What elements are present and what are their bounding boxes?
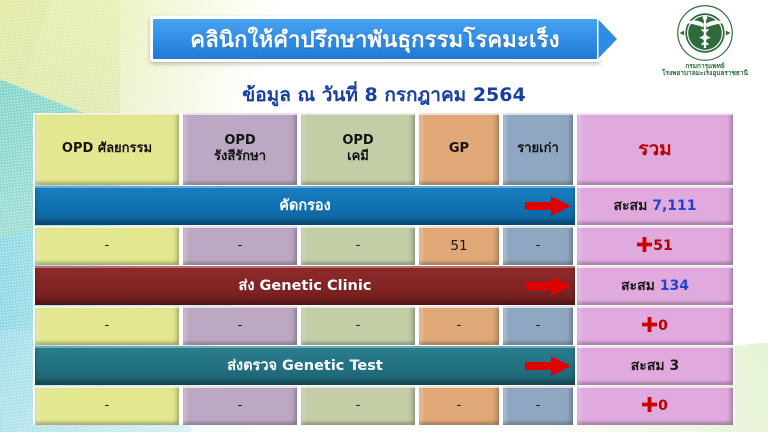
- data-as-of-date: ข้อมูล ณ วันที่ 8 กรกฎาคม 2564: [0, 80, 768, 110]
- header-line-1: OPD: [342, 133, 373, 149]
- header-cell-old-case: รายเก่า: [501, 113, 575, 185]
- data-cell-opd-surgery: -: [33, 386, 181, 425]
- logo-caption: กรมการแพทย์ โรงพยาบาลมะเร็งอุบลราชธานี: [662, 63, 748, 77]
- total-value: 51: [653, 238, 672, 254]
- cell-value: 51: [450, 238, 467, 254]
- table-row: ส่ง Genetic Clinic สะสม 134: [33, 266, 735, 305]
- cell-value: -: [356, 238, 361, 253]
- data-cell-old-case: -: [501, 386, 575, 425]
- row-banner-label: คัดกรอง: [279, 194, 330, 217]
- data-cell-gp: -: [417, 386, 501, 425]
- date-text: ข้อมูล ณ วันที่ 8 กรกฎาคม 2564: [242, 84, 525, 106]
- row-total-cell: สะสม 3: [575, 346, 735, 385]
- data-cell-opd-radiation: -: [181, 386, 299, 425]
- ministry-logo: กรมการแพทย์ โรงพยาบาลมะเร็งอุบลราชธานี: [650, 4, 760, 88]
- header-line-1: รายเก่า: [517, 141, 559, 157]
- row-banner-send-genetic-test: ส่งตรวจ Genetic Test: [33, 346, 575, 385]
- total-value: 0: [658, 318, 668, 334]
- data-cell-opd-radiation: -: [181, 226, 299, 265]
- header-line-2: รังสีรักษา: [214, 149, 266, 165]
- page-title: คลินิกให้คำปรึกษาพันธุกรรมโรคมะเร็ง: [190, 22, 559, 57]
- cell-value: -: [457, 398, 462, 413]
- row-total-cell: 0: [575, 306, 735, 345]
- header-total-label: รวม: [638, 134, 671, 164]
- total-prefix: สะสม: [631, 358, 665, 374]
- header-cell-opd-surgery: OPD ศัลยกรรม: [33, 113, 181, 185]
- red-right-arrow-icon: [525, 356, 571, 376]
- red-cross-icon: [642, 317, 657, 335]
- data-cell-gp: -: [417, 306, 501, 345]
- cell-value: -: [536, 318, 541, 333]
- red-right-arrow-icon: [525, 196, 571, 216]
- cell-value: -: [238, 398, 243, 413]
- data-cell-opd-chemo: -: [299, 306, 417, 345]
- red-cross-icon: [637, 237, 652, 255]
- cell-value: -: [238, 238, 243, 253]
- table-header-row: OPD ศัลยกรรม OPD รังสีรักษา OPD เคมี GP …: [33, 113, 735, 185]
- title-banner-arrow-tip: [597, 16, 641, 62]
- header-line-2: เคมี: [342, 149, 373, 165]
- cell-value: -: [238, 318, 243, 333]
- table-row: - - - - - 0: [33, 386, 735, 425]
- data-cell-opd-surgery: -: [33, 226, 181, 265]
- row-banner-label: ส่งตรวจ Genetic Test: [227, 354, 383, 377]
- data-cell-opd-chemo: -: [299, 386, 417, 425]
- table-row: ส่งตรวจ Genetic Test สะสม 3: [33, 346, 735, 385]
- row-total-cell: 51: [575, 226, 735, 265]
- data-cell-old-case: -: [501, 306, 575, 345]
- header-cell-gp: GP: [417, 113, 501, 185]
- row-banner-screening: คัดกรอง: [33, 186, 575, 225]
- header-cell-opd-radiation: OPD รังสีรักษา: [181, 113, 299, 185]
- total-value: 7,111: [652, 198, 696, 214]
- row-total-cell: สะสม 134: [575, 266, 735, 305]
- red-cross-icon: [642, 397, 657, 415]
- cell-value: -: [105, 238, 110, 253]
- cell-value: -: [536, 398, 541, 413]
- table-row: คัดกรอง สะสม 7,111: [33, 186, 735, 225]
- data-cell-opd-radiation: -: [181, 306, 299, 345]
- header-cell-opd-chemo: OPD เคมี: [299, 113, 417, 185]
- data-cell-old-case: -: [501, 226, 575, 265]
- total-prefix: สะสม: [621, 278, 655, 294]
- cell-value: -: [105, 318, 110, 333]
- cell-value: -: [356, 318, 361, 333]
- logo-line-2: โรงพยาบาลมะเร็งอุบลราชธานี: [662, 70, 748, 77]
- header-cell-total: รวม: [575, 113, 735, 185]
- cell-value: -: [457, 318, 462, 333]
- cell-value: -: [356, 398, 361, 413]
- total-value: 3: [669, 358, 679, 374]
- total-value: 134: [660, 278, 689, 294]
- total-value: 0: [658, 398, 668, 414]
- header-line-1: OPD: [214, 133, 266, 149]
- header-line-1: GP: [449, 141, 469, 157]
- ministry-of-public-health-emblem-icon: [676, 4, 734, 62]
- row-total-cell: สะสม 7,111: [575, 186, 735, 225]
- cell-value: -: [536, 238, 541, 253]
- total-prefix: สะสม: [613, 198, 647, 214]
- table-row: - - - 51 - 51: [33, 226, 735, 265]
- row-banner-send-genetic-clinic: ส่ง Genetic Clinic: [33, 266, 575, 305]
- statistics-table: OPD ศัลยกรรม OPD รังสีรักษา OPD เคมี GP …: [33, 113, 735, 425]
- data-cell-opd-surgery: -: [33, 306, 181, 345]
- row-total-cell: 0: [575, 386, 735, 425]
- table-row: - - - - - 0: [33, 306, 735, 345]
- data-cell-gp: 51: [417, 226, 501, 265]
- data-cell-opd-chemo: -: [299, 226, 417, 265]
- red-right-arrow-icon: [525, 276, 571, 296]
- header-line-1: OPD ศัลยกรรม: [62, 141, 152, 157]
- page-title-banner: คลินิกให้คำปรึกษาพันธุกรรมโรคมะเร็ง: [150, 16, 600, 62]
- cell-value: -: [105, 398, 110, 413]
- row-banner-label: ส่ง Genetic Clinic: [239, 274, 372, 297]
